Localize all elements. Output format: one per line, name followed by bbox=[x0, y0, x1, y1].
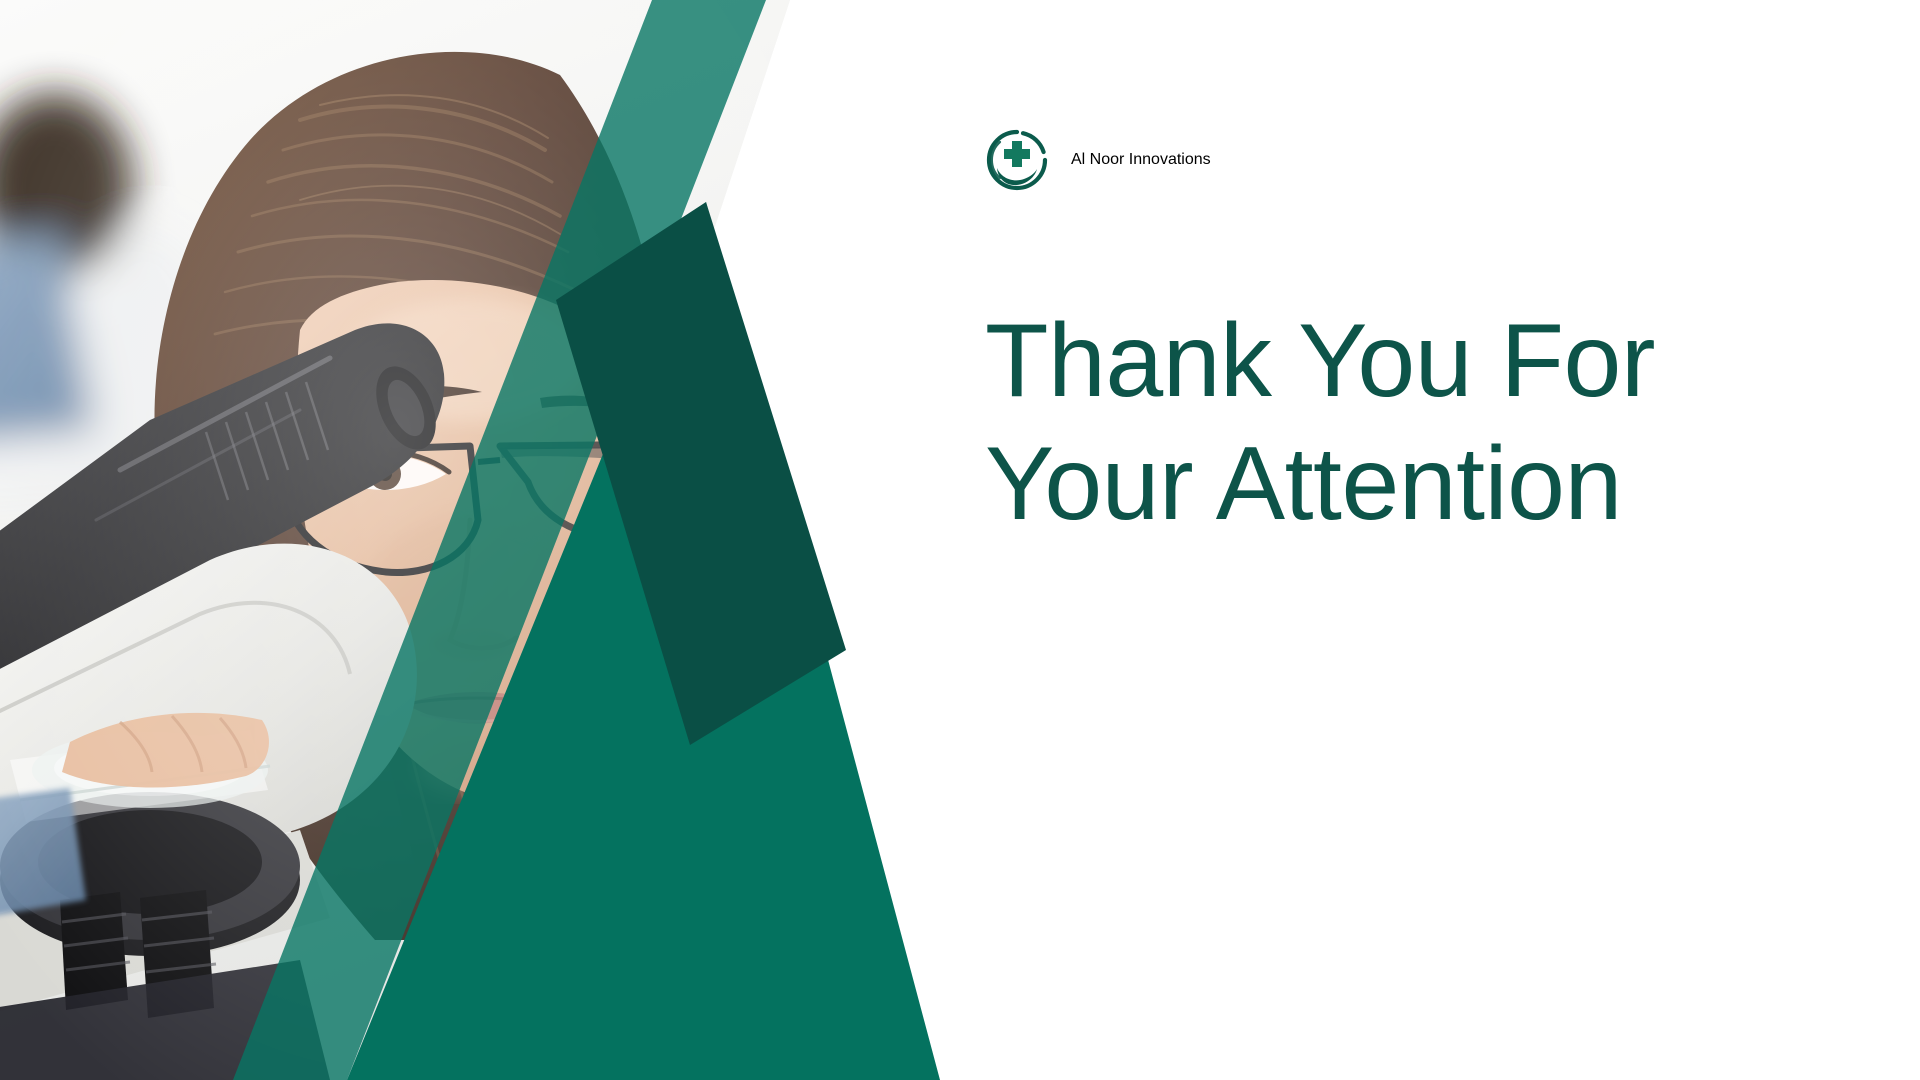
page-title: Thank You For Your Attention bbox=[985, 300, 1885, 545]
left-graphic-panel bbox=[0, 0, 960, 1080]
medical-cross-in-ring-with-hand-icon bbox=[985, 128, 1049, 192]
brand-name: Al Noor Innovations bbox=[1071, 151, 1211, 169]
headline-line-1: Thank You For bbox=[985, 300, 1885, 423]
brand-lockup: Al Noor Innovations bbox=[985, 128, 1211, 192]
slide-root: Al Noor Innovations Thank You For Your A… bbox=[0, 0, 1920, 1080]
right-content-panel: Al Noor Innovations Thank You For Your A… bbox=[985, 0, 1920, 1080]
headline-line-2: Your Attention bbox=[985, 423, 1885, 546]
